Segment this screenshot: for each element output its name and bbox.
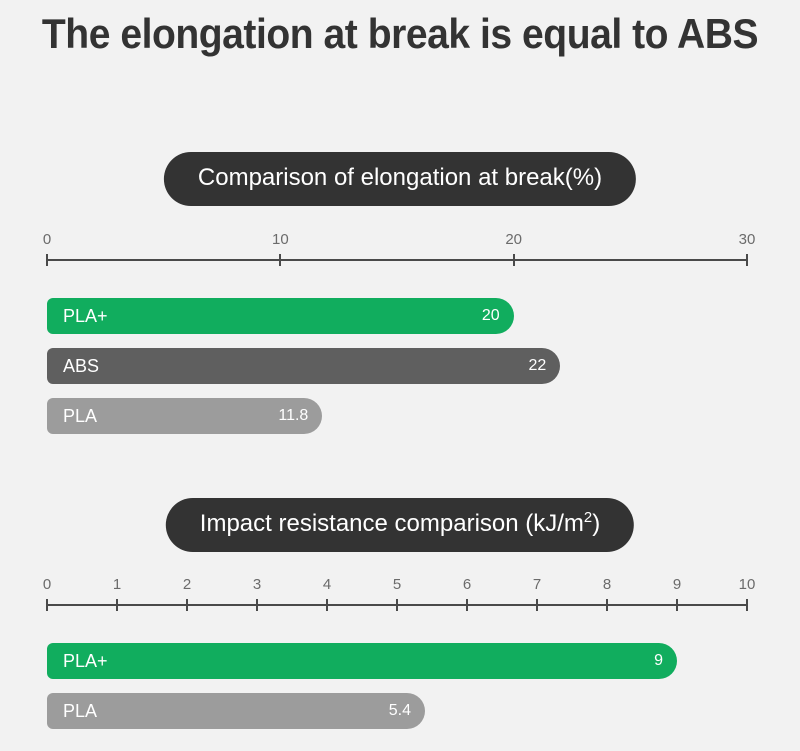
bar-category-label: PLA+ <box>63 651 108 672</box>
axis-tick <box>513 254 515 266</box>
axis-line <box>47 259 747 261</box>
bar-row: PLA+9 <box>47 643 747 679</box>
axis-tick-label: 2 <box>183 576 191 593</box>
axis-tick-label: 5 <box>393 576 401 593</box>
axis-tick <box>536 599 538 611</box>
bar-category-label: ABS <box>63 356 99 377</box>
axis-tick-label: 8 <box>603 576 611 593</box>
bar-row: PLA11.8 <box>47 398 747 434</box>
axis-tick-label: 0 <box>43 576 51 593</box>
axis-tick-label: 6 <box>463 576 471 593</box>
axis-tick <box>676 599 678 611</box>
axis-tick-label: 1 <box>113 576 121 593</box>
axis-tick-label: 10 <box>272 231 289 248</box>
axis-tick-label: 10 <box>739 576 756 593</box>
axis-tick <box>46 599 48 611</box>
axis-tick <box>116 599 118 611</box>
bar-group-impact: PLA+9PLA5.4 <box>47 643 747 743</box>
axis-tick <box>466 599 468 611</box>
axis-tick <box>186 599 188 611</box>
axis-tick <box>746 599 748 611</box>
bar-pla-plus: PLA+9 <box>47 643 677 679</box>
axis-elongation: 0102030 <box>47 233 747 267</box>
bar-pla-plus: PLA+20 <box>47 298 514 334</box>
axis-tick <box>256 599 258 611</box>
bar-pla: PLA11.8 <box>47 398 322 434</box>
axis-tick <box>279 254 281 266</box>
section-heading-elongation-label: Comparison of elongation at break(%) <box>198 164 602 191</box>
section-heading-impact: Impact resistance comparison (kJ/m2) <box>166 498 634 552</box>
bar-value-label: 11.8 <box>278 407 308 425</box>
bar-row: ABS22 <box>47 348 747 384</box>
axis-impact: 012345678910 <box>47 578 747 612</box>
axis-tick-label: 30 <box>739 231 756 248</box>
section-heading-impact-suffix: ) <box>592 510 600 537</box>
bar-abs: ABS22 <box>47 348 560 384</box>
axis-tick-label: 0 <box>43 231 51 248</box>
axis-tick <box>326 599 328 611</box>
axis-tick <box>396 599 398 611</box>
section-heading-impact-label: Impact resistance comparison (kJ/m <box>200 510 584 537</box>
axis-tick <box>606 599 608 611</box>
bar-category-label: PLA <box>63 701 97 722</box>
axis-tick-label: 3 <box>253 576 261 593</box>
bar-value-label: 9 <box>654 652 663 670</box>
bar-value-label: 22 <box>529 357 547 375</box>
infographic-page: The elongation at break is equal to ABS … <box>0 0 800 751</box>
axis-tick <box>746 254 748 266</box>
page-title: The elongation at break is equal to ABS <box>28 8 772 60</box>
bar-group-elongation: PLA+20ABS22PLA11.8 <box>47 298 747 448</box>
axis-tick-label: 20 <box>505 231 522 248</box>
section-heading-elongation: Comparison of elongation at break(%) <box>164 152 636 206</box>
bar-row: PLA5.4 <box>47 693 747 729</box>
axis-tick-label: 7 <box>533 576 541 593</box>
bar-value-label: 20 <box>482 307 500 325</box>
axis-tick-label: 4 <box>323 576 331 593</box>
axis-tick <box>46 254 48 266</box>
bar-category-label: PLA <box>63 406 97 427</box>
axis-tick-label: 9 <box>673 576 681 593</box>
bar-category-label: PLA+ <box>63 306 108 327</box>
bar-value-label: 5.4 <box>389 702 411 720</box>
bar-pla: PLA5.4 <box>47 693 425 729</box>
bar-row: PLA+20 <box>47 298 747 334</box>
